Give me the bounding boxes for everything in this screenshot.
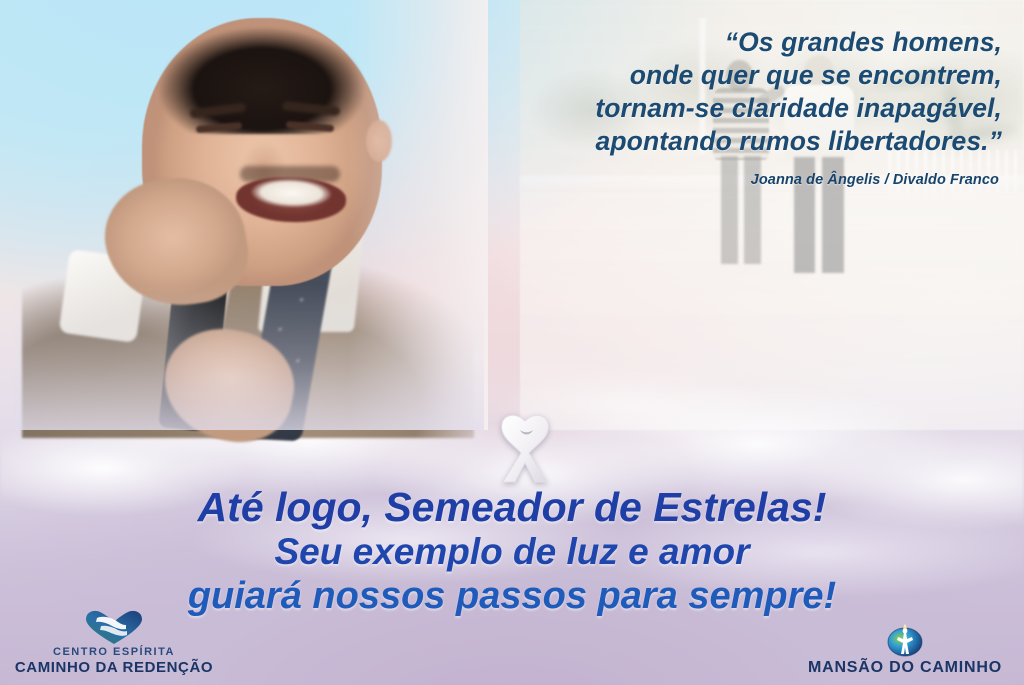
logo-left-line-1: CENTRO ESPÍRITA <box>14 646 214 659</box>
logo-mansao-do-caminho[interactable]: MANSÃO DO CAMINHO <box>800 621 1010 677</box>
quote-line-4: apontando rumos libertadores.” <box>442 125 1002 158</box>
message-line-1: Até logo, Semeador de Estrelas! <box>0 484 1024 530</box>
tribute-message: Até logo, Semeador de Estrelas! Seu exem… <box>0 484 1024 619</box>
logo-centro-espirita-caminho-da-redencao[interactable]: CENTRO ESPÍRITA CAMINHO DA REDENÇÃO <box>14 608 214 677</box>
logo-left-line-2: CAMINHO DA REDENÇÃO <box>14 659 214 677</box>
quote-line-1: “Os grandes homens, <box>442 26 1002 59</box>
quote-text: “Os grandes homens, onde quer que se enc… <box>442 26 1002 158</box>
white-awareness-ribbon-icon <box>489 408 561 486</box>
heart-with-hands-icon <box>14 608 214 646</box>
logo-right-line-2: MANSÃO DO CAMINHO <box>800 659 1010 677</box>
message-line-2: Seu exemplo de luz e amor <box>0 530 1024 574</box>
globe-with-figure-and-flame-icon <box>800 621 1010 659</box>
portrait-hair <box>140 2 384 134</box>
memorial-poster: “Os grandes homens, onde quer que se enc… <box>0 0 1024 685</box>
quote-line-3: tornam-se claridade inapagável, <box>442 92 1002 125</box>
portrait-divaldo-franco <box>14 0 484 430</box>
quote-line-2: onde quer que se encontrem, <box>442 59 1002 92</box>
quote-attribution: Joanna de Ângelis / Divaldo Franco <box>751 172 999 188</box>
portrait-ear <box>366 120 392 162</box>
